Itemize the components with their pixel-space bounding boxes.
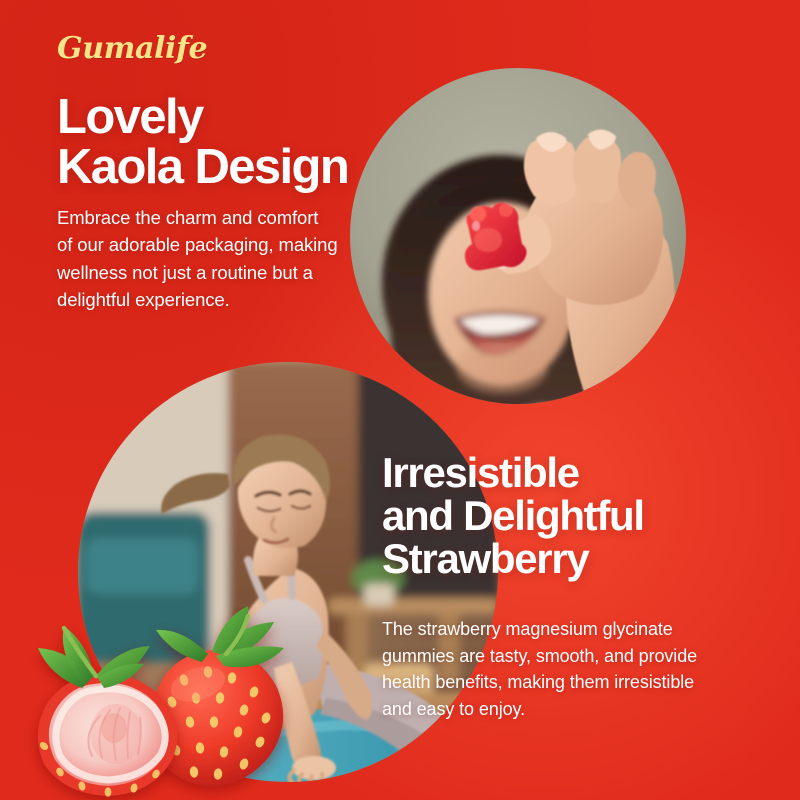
page-title-koala-design: Lovely Kaola Design (57, 93, 348, 193)
promotional-poster: Gumalife (0, 0, 800, 800)
page-title-strawberry: Irresistible and Delightful Strawberry (382, 452, 644, 580)
body-text-strawberry: The strawberry magnesium glycinate gummi… (382, 616, 697, 723)
brand-logo: Gumalife (57, 31, 207, 66)
woman-holding-gummy-bear-photo (350, 68, 686, 404)
body-text-koala-design: Embrace the charm and comfort of our ado… (57, 204, 338, 314)
